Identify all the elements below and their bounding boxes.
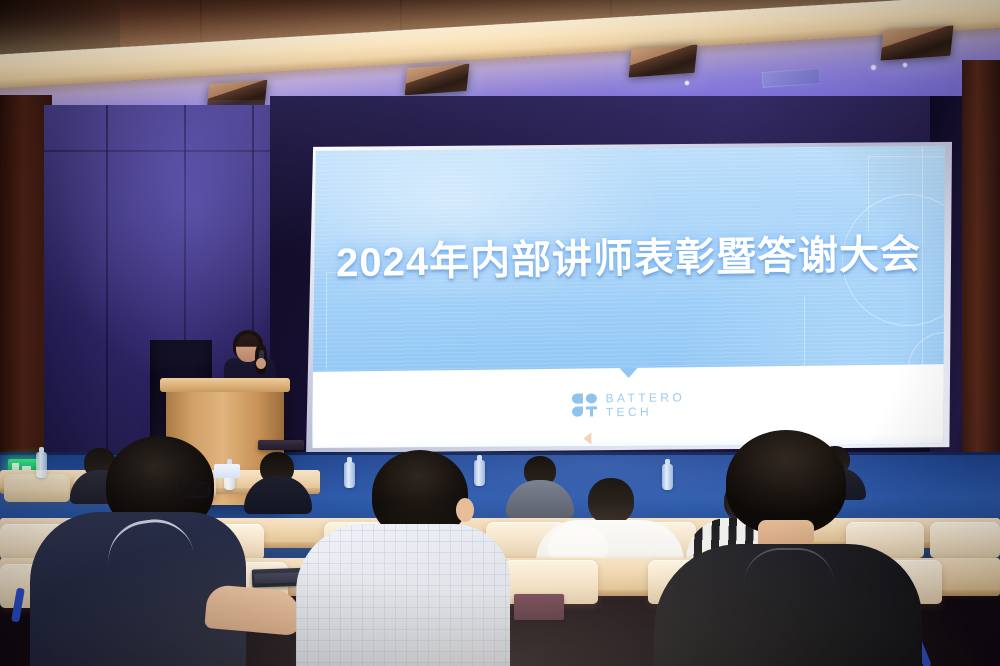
ear (456, 498, 474, 522)
ceiling-vent-4 (880, 25, 953, 60)
ceiling-downlight-6 (902, 62, 908, 68)
conference-hall-photo: 2024年内部讲师表彰暨答谢大会 BATTERO TECH (0, 0, 1000, 666)
band-notch-icon (619, 368, 637, 378)
water-bottle-1[interactable] (36, 452, 47, 478)
battero-logo-mark-icon (572, 393, 598, 417)
ceiling-vent-3 (629, 45, 698, 78)
podium-top-surface (160, 378, 290, 392)
audience-seating: BATTERO TECH (0, 440, 1000, 666)
tissue-box-1 (214, 464, 240, 478)
ceiling-vent-2 (405, 64, 470, 96)
seat-middle-8[interactable] (930, 522, 1000, 558)
speaker-hand (256, 358, 266, 369)
screen-logo-band: BATTERO TECH (312, 364, 945, 448)
battero-logo: BATTERO TECH (312, 388, 945, 422)
logo-line-2: TECH (606, 405, 686, 418)
ceiling-downlight-4 (684, 80, 690, 86)
notebook-1[interactable] (514, 594, 564, 620)
logo-line-1: BATTERO (606, 391, 686, 404)
notebook-2[interactable] (258, 440, 304, 450)
water-bottle-6[interactable] (662, 464, 673, 490)
ceiling-downlight-5 (870, 64, 877, 71)
water-bottle-4[interactable] (344, 462, 355, 488)
screen-title: 2024年内部讲师表彰暨答谢大会 (312, 221, 945, 288)
led-screen[interactable]: 2024年内部讲师表彰暨答谢大会 BATTERO TECH (312, 146, 945, 448)
glasses-icon (178, 482, 210, 498)
battero-logo-text: BATTERO TECH (606, 391, 686, 418)
water-bottle-5[interactable] (474, 460, 485, 486)
seat-back-1[interactable] (4, 474, 70, 502)
